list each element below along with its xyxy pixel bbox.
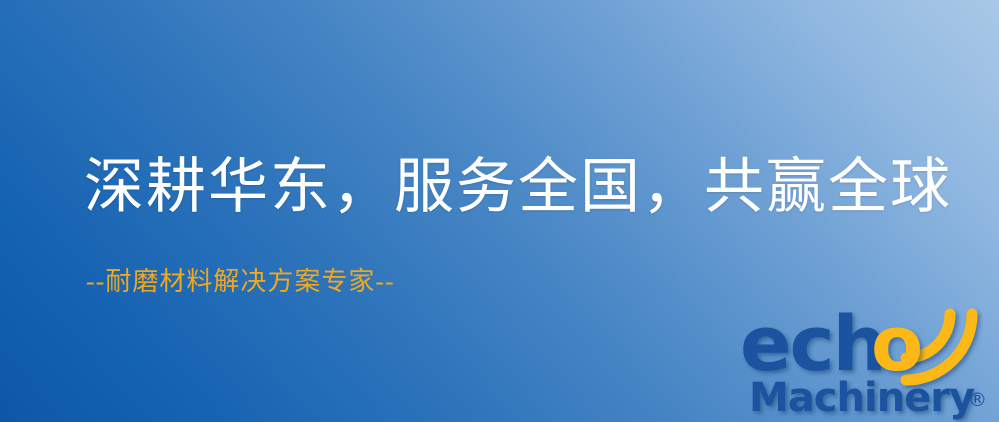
logo-wordmark-machinery: Machinery xyxy=(749,375,975,421)
echo-machinery-logo: ech o Machinery ® xyxy=(740,294,999,422)
logo-svg: ech o Machinery ® xyxy=(740,294,999,422)
registered-trademark-icon: ® xyxy=(968,389,987,411)
banner-headline: 深耕华东，服务全国，共赢全球 xyxy=(84,152,952,222)
banner-subtitle: --耐磨材料解决方案专家-- xyxy=(86,266,395,298)
promo-banner: 深耕华东，服务全国，共赢全球 --耐磨材料解决方案专家-- ech o Mach… xyxy=(0,0,999,422)
